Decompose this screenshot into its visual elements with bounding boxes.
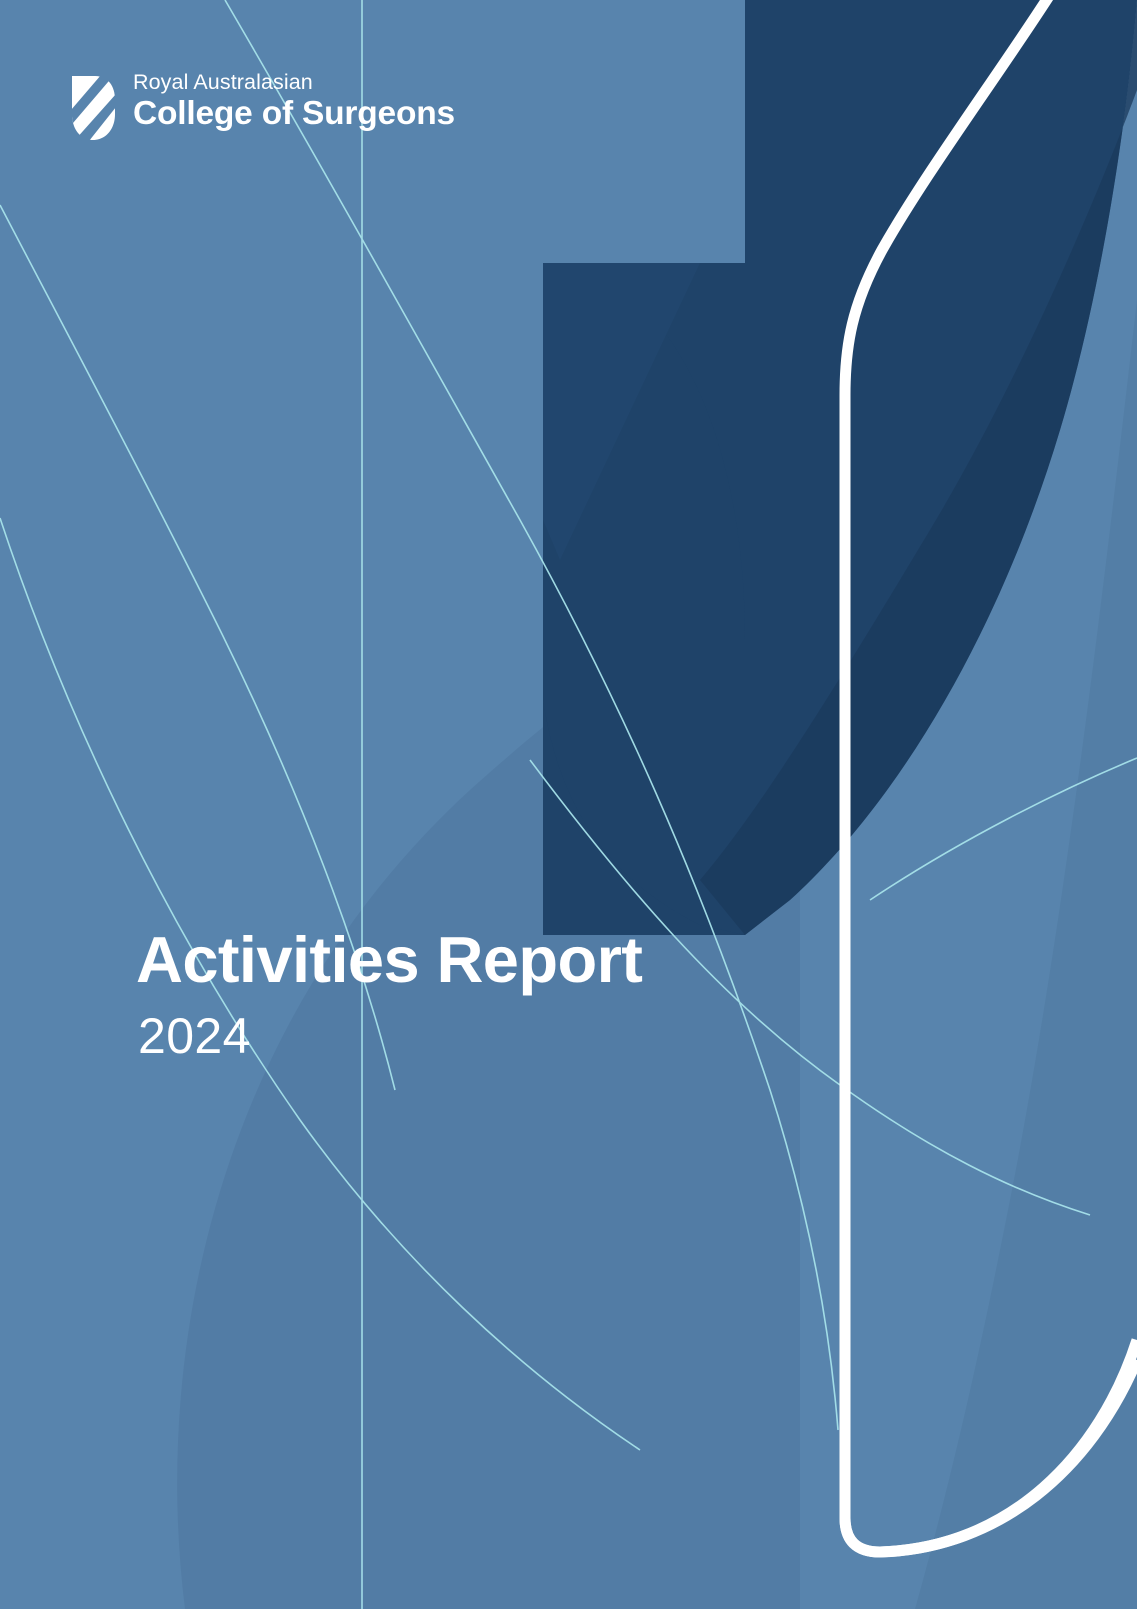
logo-line-college-of-surgeons: College of Surgeons: [133, 97, 455, 131]
report-cover-page: Royal Australasian College of Surgeons A…: [0, 0, 1137, 1609]
logo-wordmark: Royal Australasian College of Surgeons: [133, 72, 455, 130]
shield-icon: [70, 74, 117, 142]
page-year: 2024: [138, 1009, 642, 1064]
logo-line-royal-australasian: Royal Australasian: [133, 72, 455, 94]
cover-title-block: Activities Report 2024: [136, 925, 642, 1064]
page-title: Activities Report: [136, 925, 642, 995]
organisation-logo: Royal Australasian College of Surgeons: [70, 72, 455, 142]
cover-background-artwork: [0, 0, 1137, 1609]
